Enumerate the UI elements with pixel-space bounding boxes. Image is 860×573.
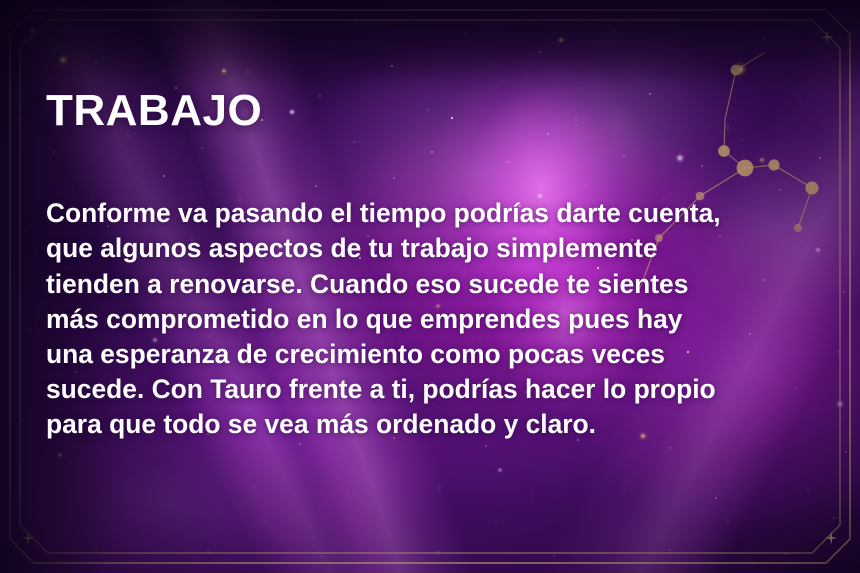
horoscope-card: TRABAJO Conforme va pasando el tiempo po… (0, 0, 860, 573)
card-content: TRABAJO Conforme va pasando el tiempo po… (46, 88, 814, 443)
page-title: TRABAJO (46, 88, 814, 134)
horoscope-body-text: Conforme va pasando el tiempo podrías da… (46, 134, 814, 442)
